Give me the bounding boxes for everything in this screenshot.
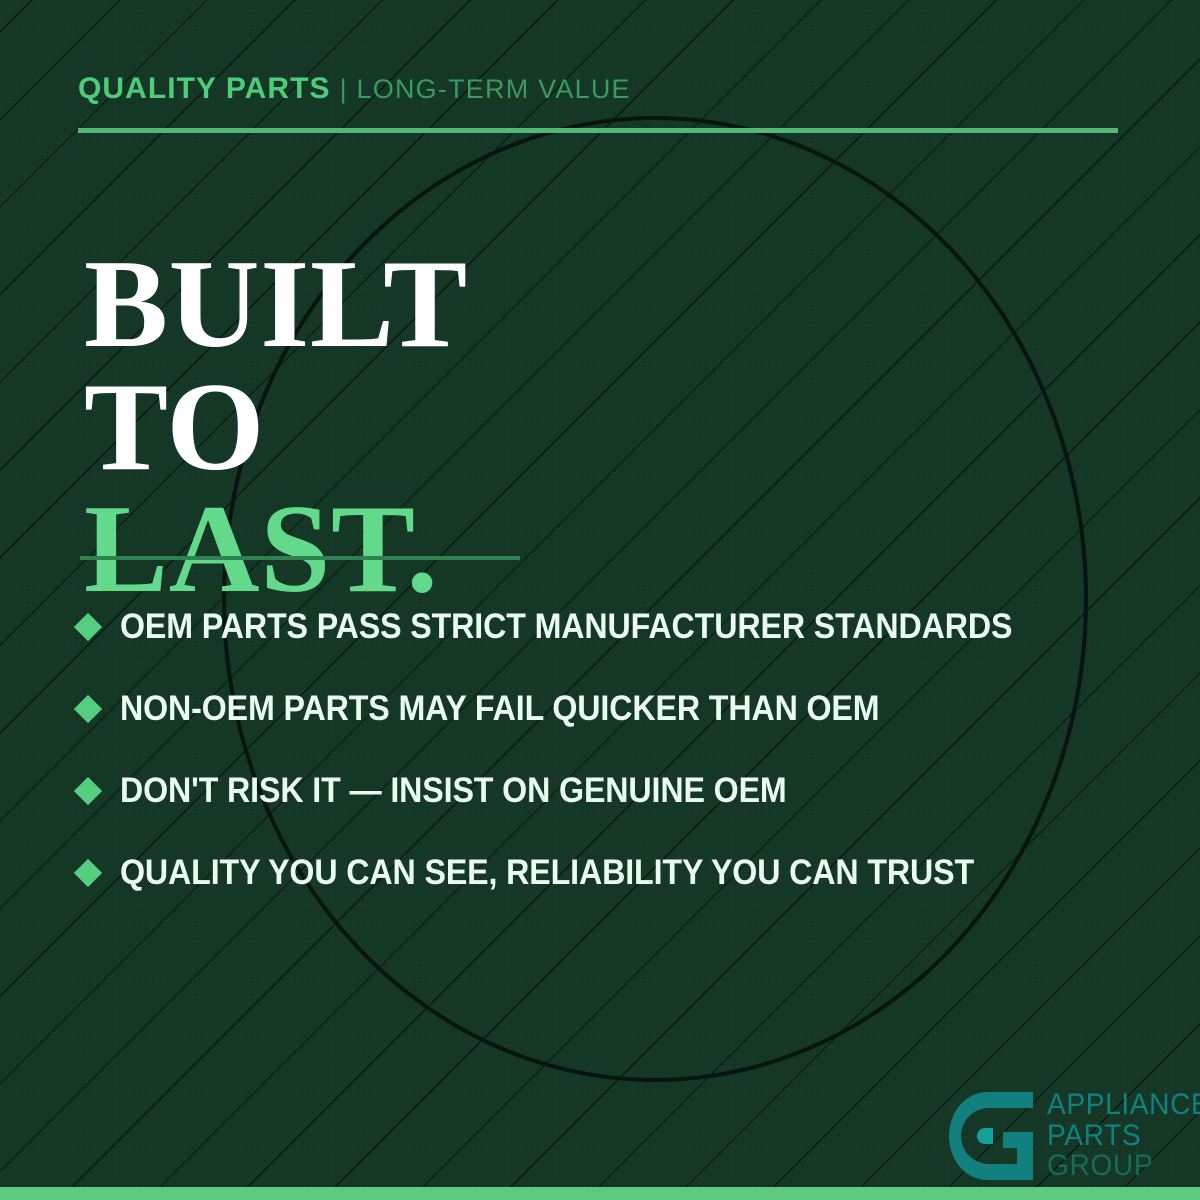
brand-wordmark: APPLIANCE PARTS GROUP [1047,1090,1200,1182]
diamond-bullet-icon [74,695,102,723]
diamond-bullet-icon [74,777,102,805]
diamond-bullet-icon [74,613,102,641]
list-item: QUALITY YOU CAN SEE, RELIABILITY YOU CAN… [78,832,1148,914]
bottom-accent-bar [0,1187,1200,1200]
brand-word-appliance: APPLIANCE [1047,1090,1200,1121]
list-item-label: QUALITY YOU CAN SEE, RELIABILITY YOU CAN… [120,853,974,893]
poster-content: QUALITY PARTS| LONG-TERM VALUE BUILT TO … [0,0,1200,1200]
headline-line-2: TO [84,367,468,489]
divider-middle [80,556,520,560]
list-item: OEM PARTS PASS STRICT MANUFACTURER STAND… [78,586,1148,668]
poster-canvas: QUALITY PARTS| LONG-TERM VALUE BUILT TO … [0,0,1200,1200]
kicker-sub-label: | LONG-TERM VALUE [340,74,631,104]
divider-top [78,128,1118,133]
list-item-label: NON-OEM PARTS MAY FAIL QUICKER THAN OEM [120,689,879,729]
benefit-list: OEM PARTS PASS STRICT MANUFACTURER STAND… [78,586,1148,914]
list-item-label: OEM PARTS PASS STRICT MANUFACTURER STAND… [120,607,1012,647]
list-item: DON'T RISK IT — INSIST ON GENUINE OEM [78,750,1148,832]
brand-word-group: GROUP [1047,1151,1200,1182]
kicker: QUALITY PARTS| LONG-TERM VALUE [78,74,631,104]
brand-logo: APPLIANCE PARTS GROUP [945,1088,1200,1184]
list-item-label: DON'T RISK IT — INSIST ON GENUINE OEM [120,771,787,811]
diamond-bullet-icon [74,859,102,887]
kicker-main-label: QUALITY PARTS [78,72,331,105]
headline-line-1: BUILT [84,244,468,366]
list-item: NON-OEM PARTS MAY FAIL QUICKER THAN OEM [78,668,1148,750]
g-monogram-icon [945,1088,1037,1184]
brand-word-parts: PARTS [1047,1121,1200,1152]
